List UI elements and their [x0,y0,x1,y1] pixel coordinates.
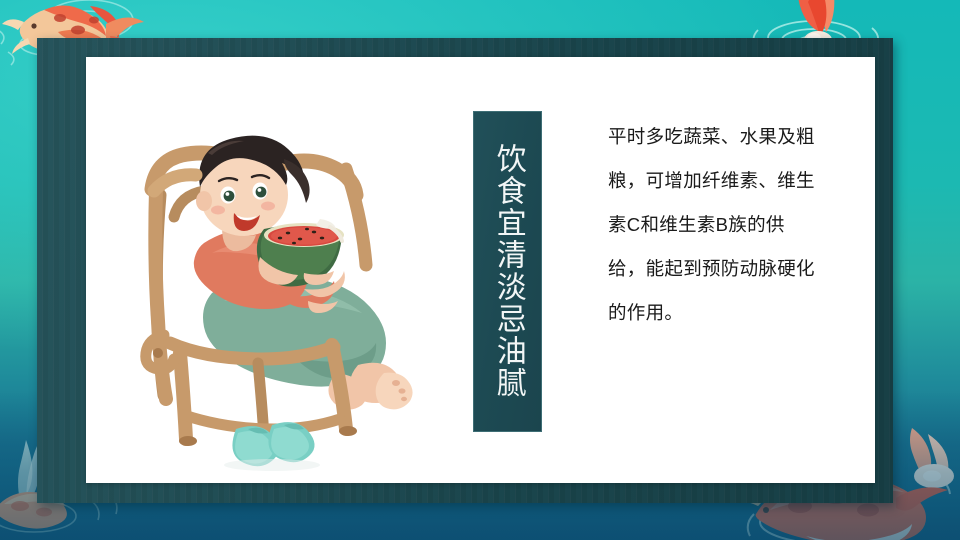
watermelon [257,219,344,287]
slippers [224,422,320,471]
slide-root: 饮食宜清淡忌油腻 平时多吃蔬菜、水果及粗粮，可增加纤维素、维生素C和维生素B族的… [0,0,960,540]
body-paragraph: 平时多吃蔬菜、水果及粗粮，可增加纤维素、维生素C和维生素B族的供给，能起到预防动… [608,115,820,335]
vertical-title-text: 饮食宜清淡忌油腻 [488,143,526,399]
vertical-title-plaque: 饮食宜清淡忌油腻 [473,111,542,432]
illustration-boy-eating-watermelon [108,77,438,477]
content-card: 饮食宜清淡忌油腻 平时多吃蔬菜、水果及粗粮，可增加纤维素、维生素C和维生素B族的… [86,57,875,483]
